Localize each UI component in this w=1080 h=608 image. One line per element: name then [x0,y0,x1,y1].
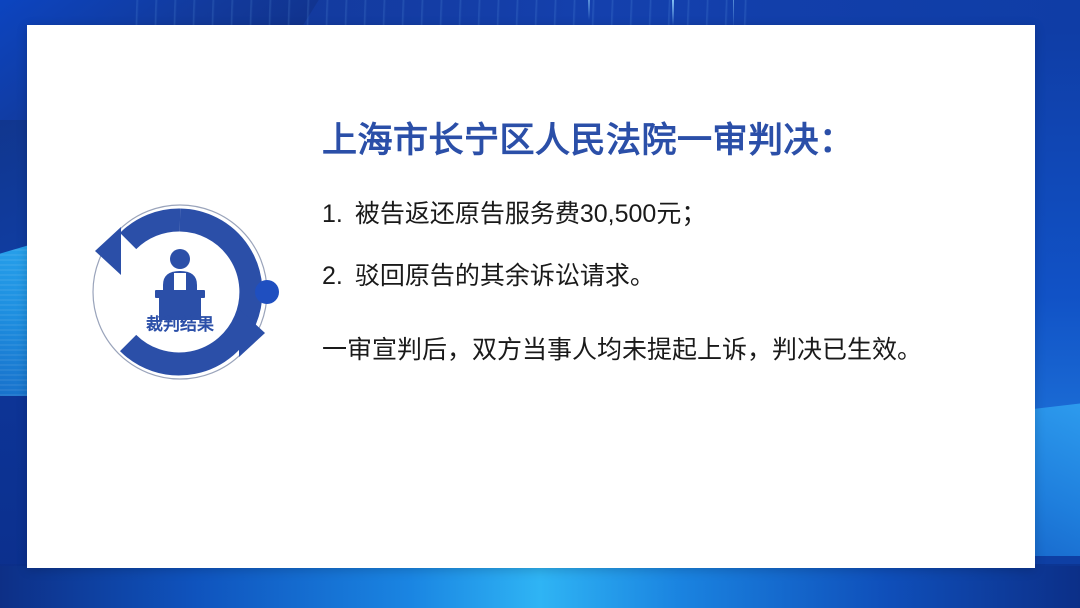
list-item-number: 1. [322,196,343,232]
page-title: 上海市长宁区人民法院一审判决： [322,120,1022,162]
content-card: 裁判结果 上海市长宁区人民法院一审判决： 1. 被告返还原告服务费30,500元… [27,25,1035,568]
judgment-result-badge: 裁判结果 [75,197,295,387]
judgment-result-badge-graphic: 裁判结果 [75,197,295,387]
list-item: 1. 被告返还原告服务费30,500元； [322,196,1022,232]
background-streak-line [672,0,674,26]
background-bottom-band [0,566,1080,608]
closing-paragraph: 一审宣判后，双方当事人均未提起上诉，判决已生效。 [322,329,982,372]
slide-root: 裁判结果 上海市长宁区人民法院一审判决： 1. 被告返还原告服务费30,500元… [0,0,1080,608]
content-body: 上海市长宁区人民法院一审判决： 1. 被告返还原告服务费30,500元； 2. … [322,120,1022,397]
list-item-number: 2. [322,258,343,294]
badge-accent-dot [255,280,279,304]
list-item-text: 被告返还原告服务费30,500元； [355,196,1022,232]
badge-label: 裁判结果 [146,314,214,334]
list-item-text: 驳回原告的其余诉讼请求。 [355,258,1022,294]
list-item: 2. 驳回原告的其余诉讼请求。 [322,258,1022,294]
background-streak-line [588,0,590,20]
